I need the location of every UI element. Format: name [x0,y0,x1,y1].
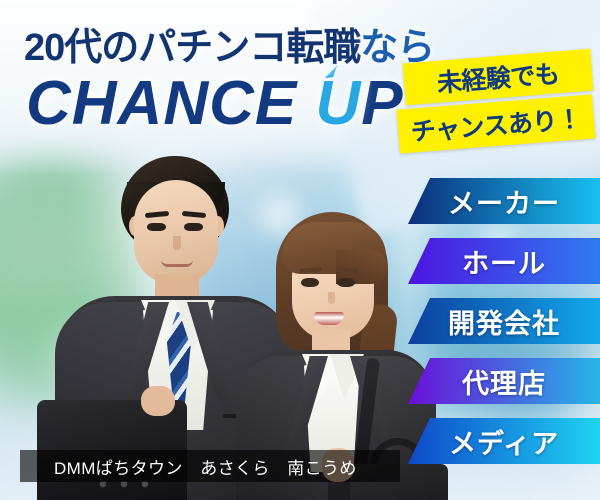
man-eye-left [147,223,166,231]
headline-u-letter: U [315,68,361,139]
category-button-maker[interactable]: メーカー [408,178,600,224]
headline-line-1-main: 20代のパチンコ転職 [24,27,360,69]
chance-up-banner: 20代のパチンコ転職なら CHANCE UP 未経験でも チャンスあり！ メーカ… [0,0,600,500]
category-button-media[interactable]: メディア [408,418,600,464]
headline-line-2: CHANCE UP [26,68,404,139]
people-photo-group [0,150,430,500]
category-button-hall[interactable]: ホール [408,238,600,284]
credit-bar: DMMぱちタウン あさくら 南こうめ [20,450,400,482]
man-mouth [161,260,193,267]
category-button-developer[interactable]: 開発会社 [408,298,600,344]
experience-badge: 未経験でも チャンスあり！ [398,56,594,160]
woman-bangs [282,222,386,274]
headline-chance-text: CHANCE [26,69,315,138]
category-button-list: メーカー ホール 開発会社 代理店 メディア [400,178,600,478]
woman-nose [328,292,335,304]
woman-eye-right [337,278,355,287]
man-hand [141,386,175,416]
man-face [134,180,218,284]
man-eye-right [184,223,203,231]
woman-smile [314,312,344,325]
man-nose [173,236,181,250]
category-button-agency[interactable]: 代理店 [408,358,600,404]
headline-line-1: 20代のパチンコ転職なら [24,16,434,71]
woman-eye-left [301,278,319,287]
